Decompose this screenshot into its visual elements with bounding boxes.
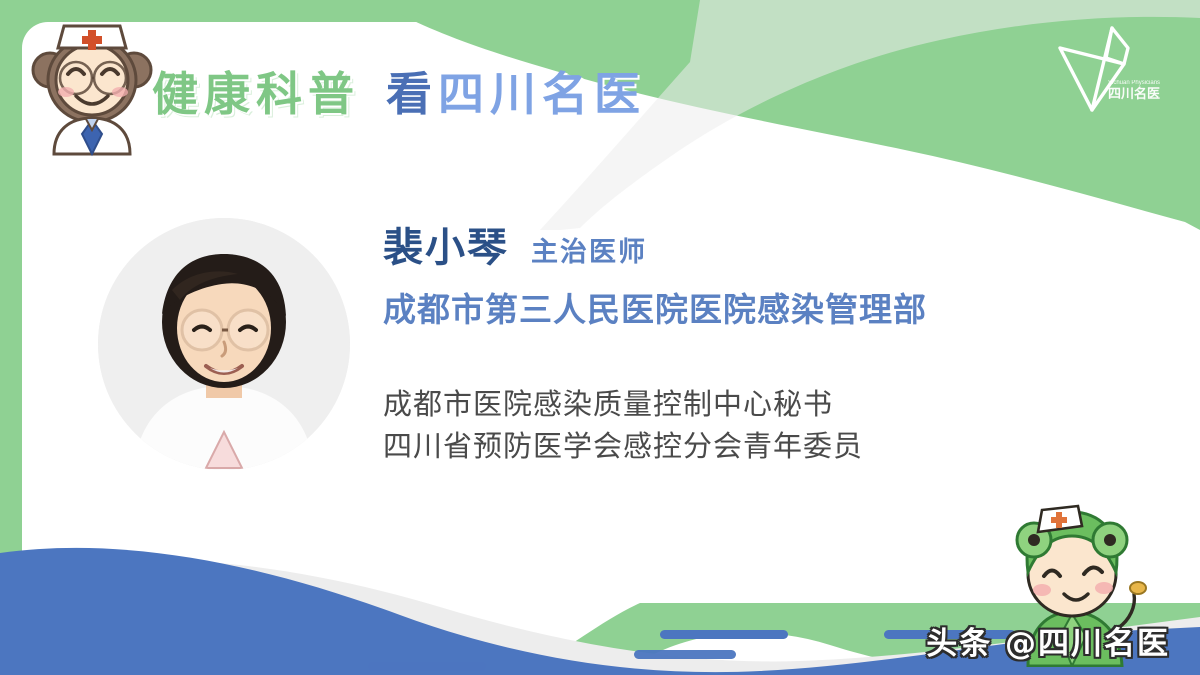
credential-line: 成都市医院感染质量控制中心秘书 bbox=[383, 383, 1103, 425]
doctor-credentials: 成都市医院感染质量控制中心秘书 四川省预防医学会感控分会青年委员 bbox=[383, 383, 1103, 467]
nurse-mascot-icon bbox=[28, 18, 156, 160]
logo-mark-icon: Sichuan Physicians 四川名医 bbox=[1050, 18, 1160, 118]
doctor-name: 裴小琴 bbox=[383, 215, 509, 273]
doctor-rank: 主治医师 bbox=[531, 230, 647, 269]
logo-text-en: Sichuan Physicians bbox=[1108, 80, 1160, 86]
doctor-department: 成都市第三人民医院医院感染管理部 bbox=[383, 283, 1103, 331]
watermark-text: 头条 @四川名医 bbox=[926, 618, 1170, 663]
logo-text: Sichuan Physicians 四川名医 bbox=[1108, 80, 1160, 102]
decorative-dash bbox=[634, 650, 736, 659]
doctor-info: 裴小琴 主治医师 成都市第三人民医院医院感染管理部 成都市医院感染质量控制中心秘… bbox=[383, 215, 1103, 467]
decorative-dash bbox=[660, 630, 788, 639]
decorative-dash bbox=[368, 662, 486, 671]
logo-text-cn: 四川名医 bbox=[1108, 86, 1160, 102]
poster-canvas: Sichuan Physicians 四川名医 健康 bbox=[0, 0, 1200, 675]
brand-logo: Sichuan Physicians 四川名医 bbox=[1050, 18, 1160, 118]
page-title: 健康科普看四川名医 bbox=[152, 58, 646, 124]
doctor-photo bbox=[98, 218, 350, 470]
title-blue-light-part: 四川名医 bbox=[438, 67, 646, 121]
credential-line: 四川省预防医学会感控分会青年委员 bbox=[383, 425, 1103, 467]
doctor-name-row: 裴小琴 主治医师 bbox=[383, 215, 1103, 273]
title-blue-dark-part: 看 bbox=[386, 67, 438, 121]
doctor-portrait-illustration bbox=[98, 218, 350, 470]
title-green-part: 健康科普 bbox=[152, 67, 360, 121]
